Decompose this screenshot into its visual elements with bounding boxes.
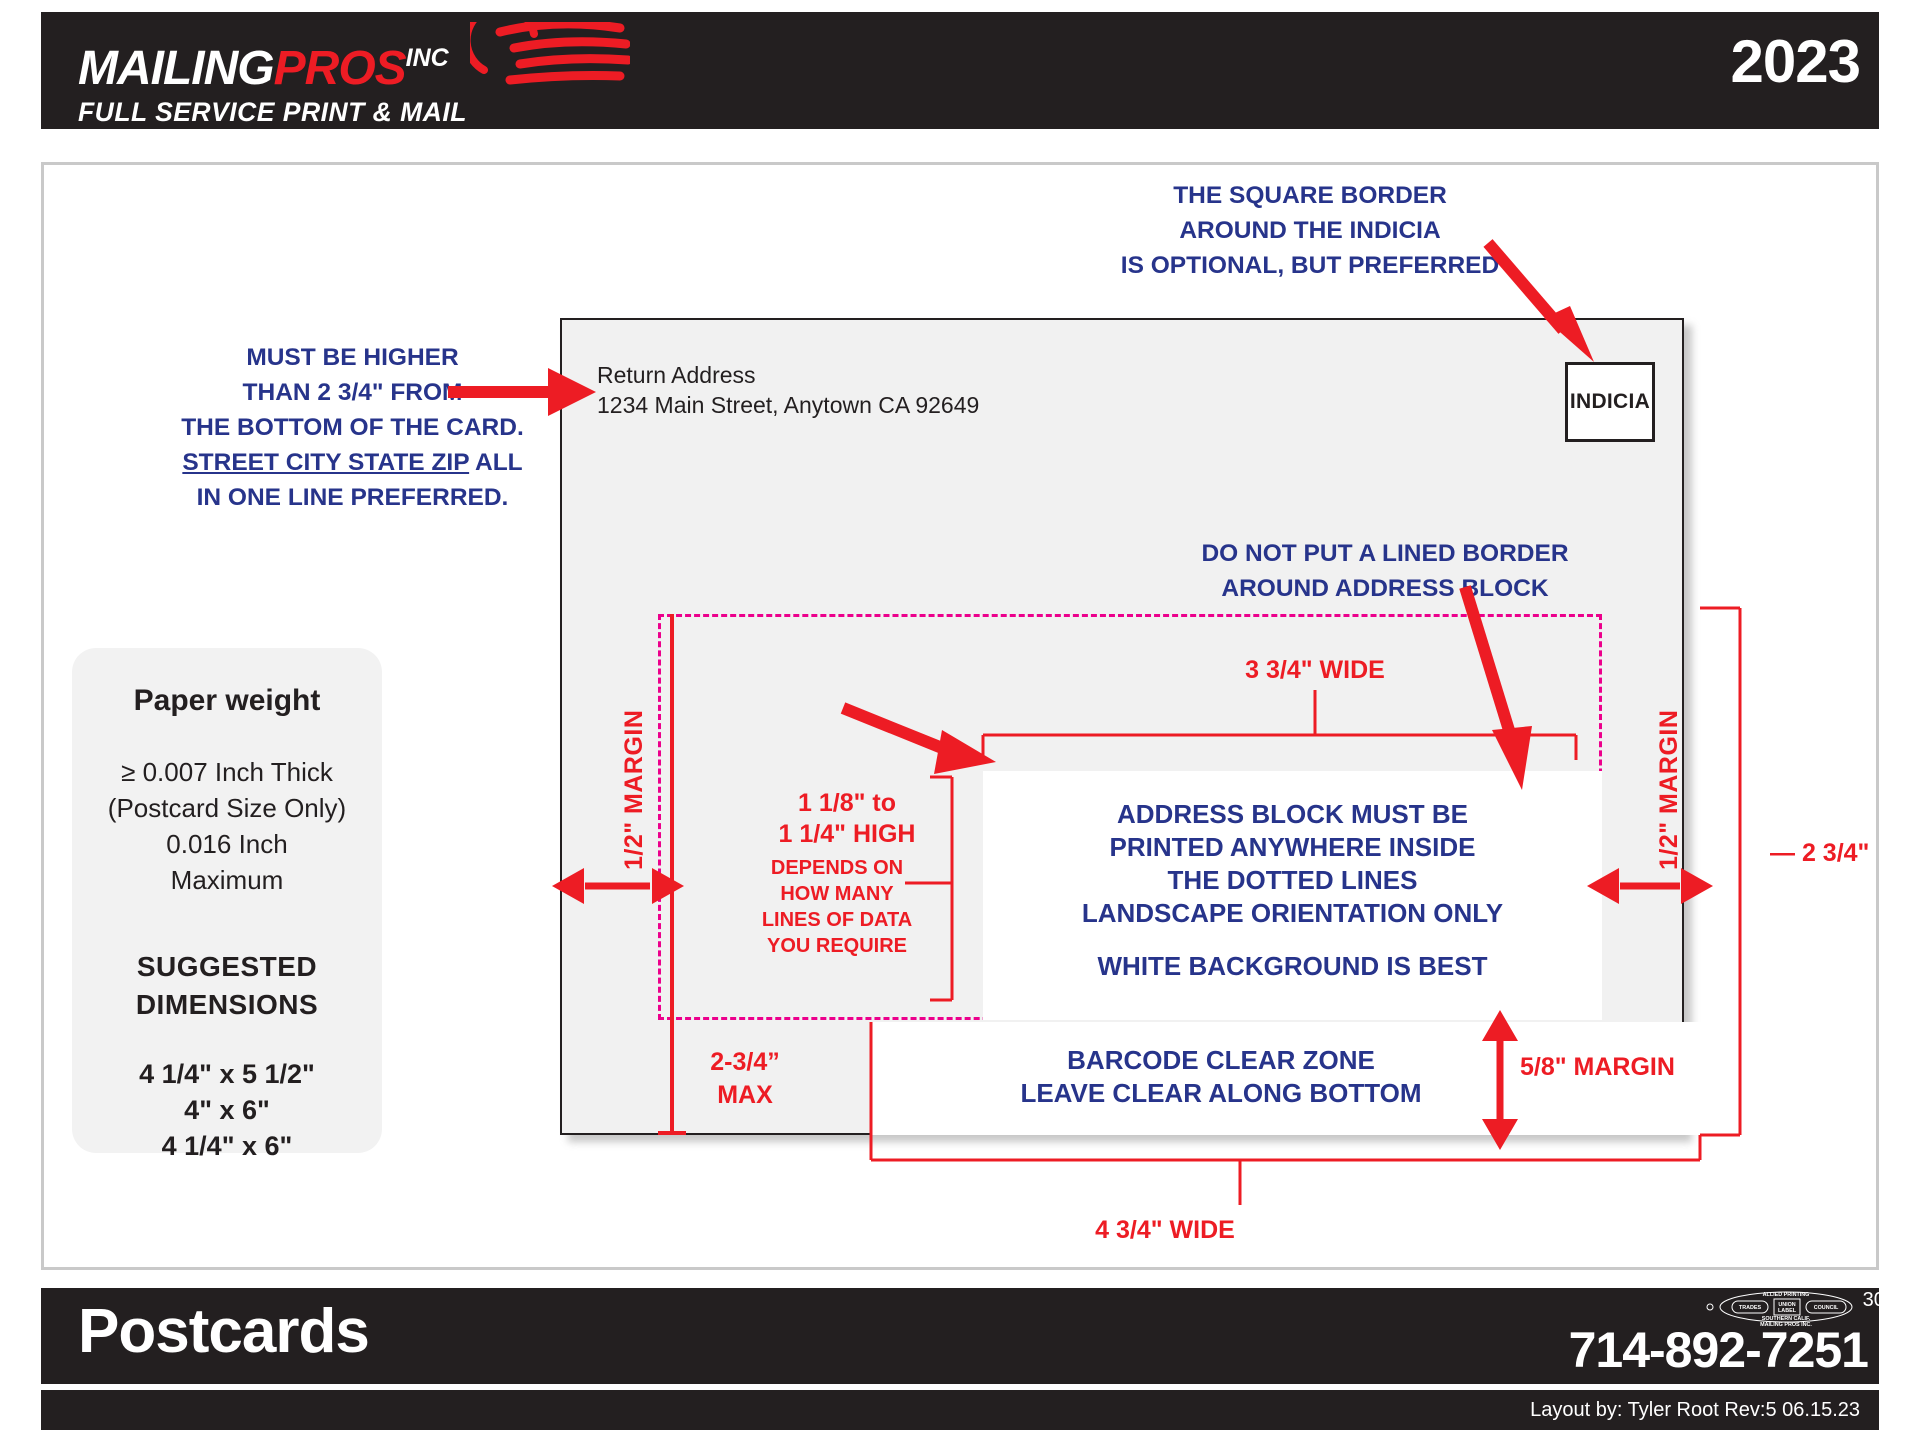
annotation-left-line-2: THAN 2 3/4" FROM bbox=[150, 375, 555, 410]
union-label-count: 300 bbox=[1863, 1288, 1896, 1312]
suggested-size-2: 4 1/4" x 6" bbox=[72, 1128, 382, 1164]
dimension-width-3-3-4: 3 3/4" WIDE bbox=[1150, 655, 1480, 685]
annotation-left-line-4: STREET CITY STATE ZIP ALL bbox=[150, 445, 555, 480]
return-address-block: Return Address 1234 Main Street, Anytown… bbox=[597, 360, 979, 420]
paper-weight-spec: ≥ 0.007 Inch Thick (Postcard Size Only) … bbox=[72, 754, 382, 898]
annotation-no-lined-border: DO NOT PUT A LINED BORDER AROUND ADDRESS… bbox=[1150, 536, 1620, 606]
svg-text:ALLIED PRINTING: ALLIED PRINTING bbox=[1763, 1292, 1810, 1298]
dimension-max-2-3-4: 2-3/4” MAX bbox=[680, 1046, 810, 1112]
return-address-line1: Return Address bbox=[597, 360, 979, 390]
addr-line-3: LANDSCAPE ORIENTATION ONLY bbox=[983, 897, 1602, 930]
max-234-line2: MAX bbox=[680, 1079, 810, 1112]
suggested-size-0: 4 1/4" x 5 1/2" bbox=[72, 1056, 382, 1092]
paper-spec-3: Maximum bbox=[72, 862, 382, 898]
paper-spec-0: ≥ 0.007 Inch Thick bbox=[72, 754, 382, 790]
footer-phone[interactable]: 714-892-7251 bbox=[1569, 1322, 1868, 1378]
suggested-heading-0: SUGGESTED bbox=[72, 948, 382, 986]
dimension-margin-right-half: 1/2" MARGIN bbox=[1655, 710, 1684, 870]
swoosh-icon bbox=[470, 22, 630, 102]
addr-line-2: THE DOTTED LINES bbox=[983, 864, 1602, 897]
indicia-label: INDICIA bbox=[1570, 390, 1650, 414]
suggested-dimensions-heading: SUGGESTED DIMENSIONS bbox=[72, 948, 382, 1024]
annotation-indicia-line-2: IS OPTIONAL, BUT PREFERRED bbox=[1110, 248, 1510, 283]
annotation-left-line-5: IN ONE LINE PREFERRED. bbox=[150, 480, 555, 515]
return-address-line2: 1234 Main Street, Anytown CA 92649 bbox=[597, 390, 979, 420]
dimension-width-4-3-4: 4 3/4" WIDE bbox=[1000, 1215, 1330, 1245]
annotation-left-line-3: THE BOTTOM OF THE CARD. bbox=[150, 410, 555, 445]
annotation-left-underlined: STREET CITY STATE ZIP bbox=[182, 449, 469, 476]
addr-line-0: ADDRESS BLOCK MUST BE bbox=[983, 798, 1602, 831]
year-label: 2023 bbox=[1731, 27, 1860, 97]
barcode-zone-instructions: BARCODE CLEAR ZONE LEAVE CLEAR ALONG BOT… bbox=[871, 1044, 1571, 1110]
annotation-left-line-1: MUST BE HIGHER bbox=[150, 340, 555, 375]
depends-line-2: LINES OF DATA bbox=[752, 907, 922, 933]
addr-line-5: WHITE BACKGROUND IS BEST bbox=[983, 950, 1602, 983]
suggested-sizes-list: 4 1/4" x 5 1/2" 4" x 6" 4 1/4" x 6" bbox=[72, 1056, 382, 1164]
annotation-border-line-1: AROUND ADDRESS BLOCK bbox=[1150, 571, 1620, 606]
address-block-instructions: ADDRESS BLOCK MUST BE PRINTED ANYWHERE I… bbox=[983, 798, 1602, 983]
depends-line-0: DEPENDS ON bbox=[752, 855, 922, 881]
block-height-line2: 1 1/4" HIGH bbox=[752, 819, 942, 850]
annotation-border-line-0: DO NOT PUT A LINED BORDER bbox=[1150, 536, 1620, 571]
annotation-return-address-rule: MUST BE HIGHER THAN 2 3/4" FROM THE BOTT… bbox=[150, 340, 555, 515]
dimension-depends-note: DEPENDS ON HOW MANY LINES OF DATA YOU RE… bbox=[752, 855, 922, 959]
svg-text:COUNCIL: COUNCIL bbox=[1814, 1305, 1839, 1311]
barcode-line-0: BARCODE CLEAR ZONE bbox=[871, 1044, 1571, 1077]
paper-weight-heading: Paper weight bbox=[72, 682, 382, 720]
layout-credit: Layout by: Tyler Root Rev:5 06.15.23 bbox=[1530, 1396, 1860, 1424]
dimension-margin-5-8: 5/8" MARGIN bbox=[1520, 1052, 1675, 1082]
paper-weight-panel: Paper weight ≥ 0.007 Inch Thick (Postcar… bbox=[72, 648, 382, 1153]
dimension-block-height: 1 1/8" to 1 1/4" HIGH bbox=[752, 788, 942, 850]
logo-pros: PROS bbox=[274, 42, 406, 95]
svg-text:MAILING PROS INC.: MAILING PROS INC. bbox=[1760, 1322, 1812, 1327]
annotation-indicia-line-0: THE SQUARE BORDER bbox=[1110, 178, 1510, 213]
logo-tagline: FULL SERVICE PRINT & MAIL PROVIDER bbox=[78, 97, 598, 157]
annotation-indicia-line-1: AROUND THE INDICIA bbox=[1110, 213, 1510, 248]
dimension-margin-left-half: 1/2" MARGIN bbox=[620, 710, 649, 870]
annotation-indicia-border: THE SQUARE BORDER AROUND THE INDICIA IS … bbox=[1110, 178, 1510, 283]
max-234-line1: 2-3/4” bbox=[680, 1046, 810, 1079]
logo-inc: INC bbox=[406, 44, 449, 72]
suggested-size-1: 4" x 6" bbox=[72, 1092, 382, 1128]
paper-spec-2: 0.016 Inch bbox=[72, 826, 382, 862]
logo-mailing: MAILING bbox=[78, 42, 274, 95]
svg-text:LABEL: LABEL bbox=[1778, 1308, 1797, 1314]
paper-spec-1: (Postcard Size Only) bbox=[72, 790, 382, 826]
footer-product-title: Postcards bbox=[78, 1292, 369, 1372]
depends-line-1: HOW MANY bbox=[752, 881, 922, 907]
indicia-box: INDICIA bbox=[1565, 362, 1655, 442]
block-height-line1: 1 1/8" to bbox=[752, 788, 942, 819]
svg-text:TRADES: TRADES bbox=[1739, 1305, 1762, 1311]
union-label-icon: ALLIED PRINTING TRADES UNION LABEL COUNC… bbox=[1698, 1287, 1868, 1327]
depends-line-3: YOU REQUIRE bbox=[752, 933, 922, 959]
barcode-line-1: LEAVE CLEAR ALONG BOTTOM bbox=[871, 1077, 1571, 1110]
suggested-heading-1: DIMENSIONS bbox=[72, 986, 382, 1024]
annotation-left-line4-rest: ALL bbox=[469, 449, 523, 476]
addr-line-1: PRINTED ANYWHERE INSIDE bbox=[983, 831, 1602, 864]
dimension-height-2-3-4: — 2 3/4" bbox=[1770, 838, 1869, 868]
